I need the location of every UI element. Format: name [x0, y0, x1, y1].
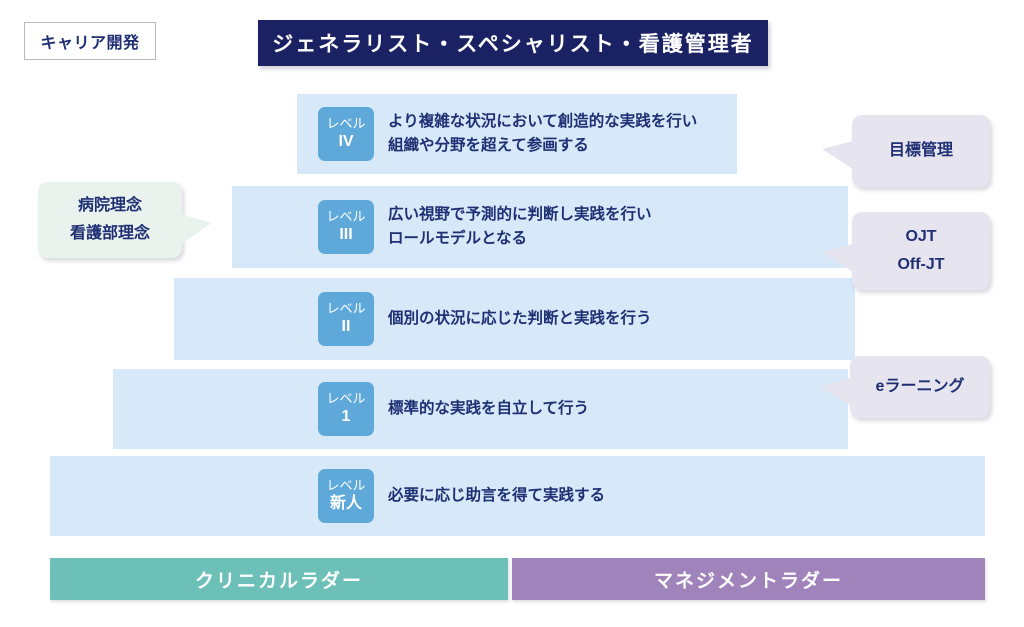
level-badge: レベル 新人 [318, 469, 374, 523]
ladder-type-bars: クリニカルラダー マネジメントラダー [50, 558, 985, 600]
level-badge-number: II [342, 318, 351, 336]
callout-elearning-label: eラーニング [876, 373, 965, 401]
callout-philosophy: 病院理念 看護部理念 [38, 182, 182, 258]
callout-elearning: eラーニング [850, 356, 990, 418]
level-badge: レベル 1 [318, 382, 374, 436]
level-description: 標準的な実践を自立して行う [388, 397, 589, 421]
level-row: レベル 新人 必要に応じ助言を得て実践する [50, 456, 985, 536]
level-badge-number: III [339, 226, 352, 244]
callout-philosophy-line2: 看護部理念 [70, 220, 150, 248]
callout-ojt-line2: Off-JT [897, 251, 944, 279]
callout-tail-right-icon [181, 214, 212, 244]
callout-philosophy-line1: 病院理念 [78, 192, 142, 220]
level-badge: レベル II [318, 292, 374, 346]
callout-tail-left-icon [822, 244, 853, 272]
level-badge-word: レベル [326, 392, 365, 406]
level-description: 広い視野で予測的に判断し実践を行い ロールモデルとなる [388, 203, 652, 251]
level-badge: レベル III [318, 200, 374, 254]
callout-tail-left-icon [822, 141, 853, 169]
level-badge-word: レベル [326, 302, 365, 316]
level-badge-number: 新人 [330, 495, 362, 513]
callout-tail-left-icon [820, 378, 851, 406]
level-row: レベル II 個別の状況に応じた判断と実践を行う [174, 278, 855, 360]
level-badge-word: レベル [326, 117, 365, 131]
level-row: レベル IV より複雑な状況において創造的な実践を行い 組織や分野を超えて参画す… [297, 94, 737, 174]
level-description: より複雑な状況において創造的な実践を行い 組織や分野を超えて参画する [388, 110, 697, 158]
management-ladder-bar: マネジメントラダー [512, 558, 985, 600]
level-row: レベル 1 標準的な実践を自立して行う [113, 369, 848, 449]
level-badge-word: レベル [326, 210, 365, 224]
callout-goal-management-label: 目標管理 [889, 137, 953, 165]
level-row: レベル III 広い視野で予測的に判断し実践を行い ロールモデルとなる [232, 186, 848, 268]
callout-ojt: OJT Off-JT [852, 212, 990, 290]
callout-goal-management: 目標管理 [852, 115, 990, 187]
level-badge-number: IV [338, 133, 353, 151]
clinical-ladder-bar: クリニカルラダー [50, 558, 508, 600]
callout-ojt-line1: OJT [905, 223, 936, 251]
ladder-rows: レベル IV より複雑な状況において創造的な実践を行い 組織や分野を超えて参画す… [0, 0, 1024, 627]
level-badge-number: 1 [342, 408, 351, 426]
level-badge: レベル IV [318, 107, 374, 161]
level-badge-word: レベル [326, 479, 365, 493]
level-description: 必要に応じ助言を得て実践する [388, 484, 605, 508]
level-description: 個別の状況に応じた判断と実践を行う [388, 307, 652, 331]
